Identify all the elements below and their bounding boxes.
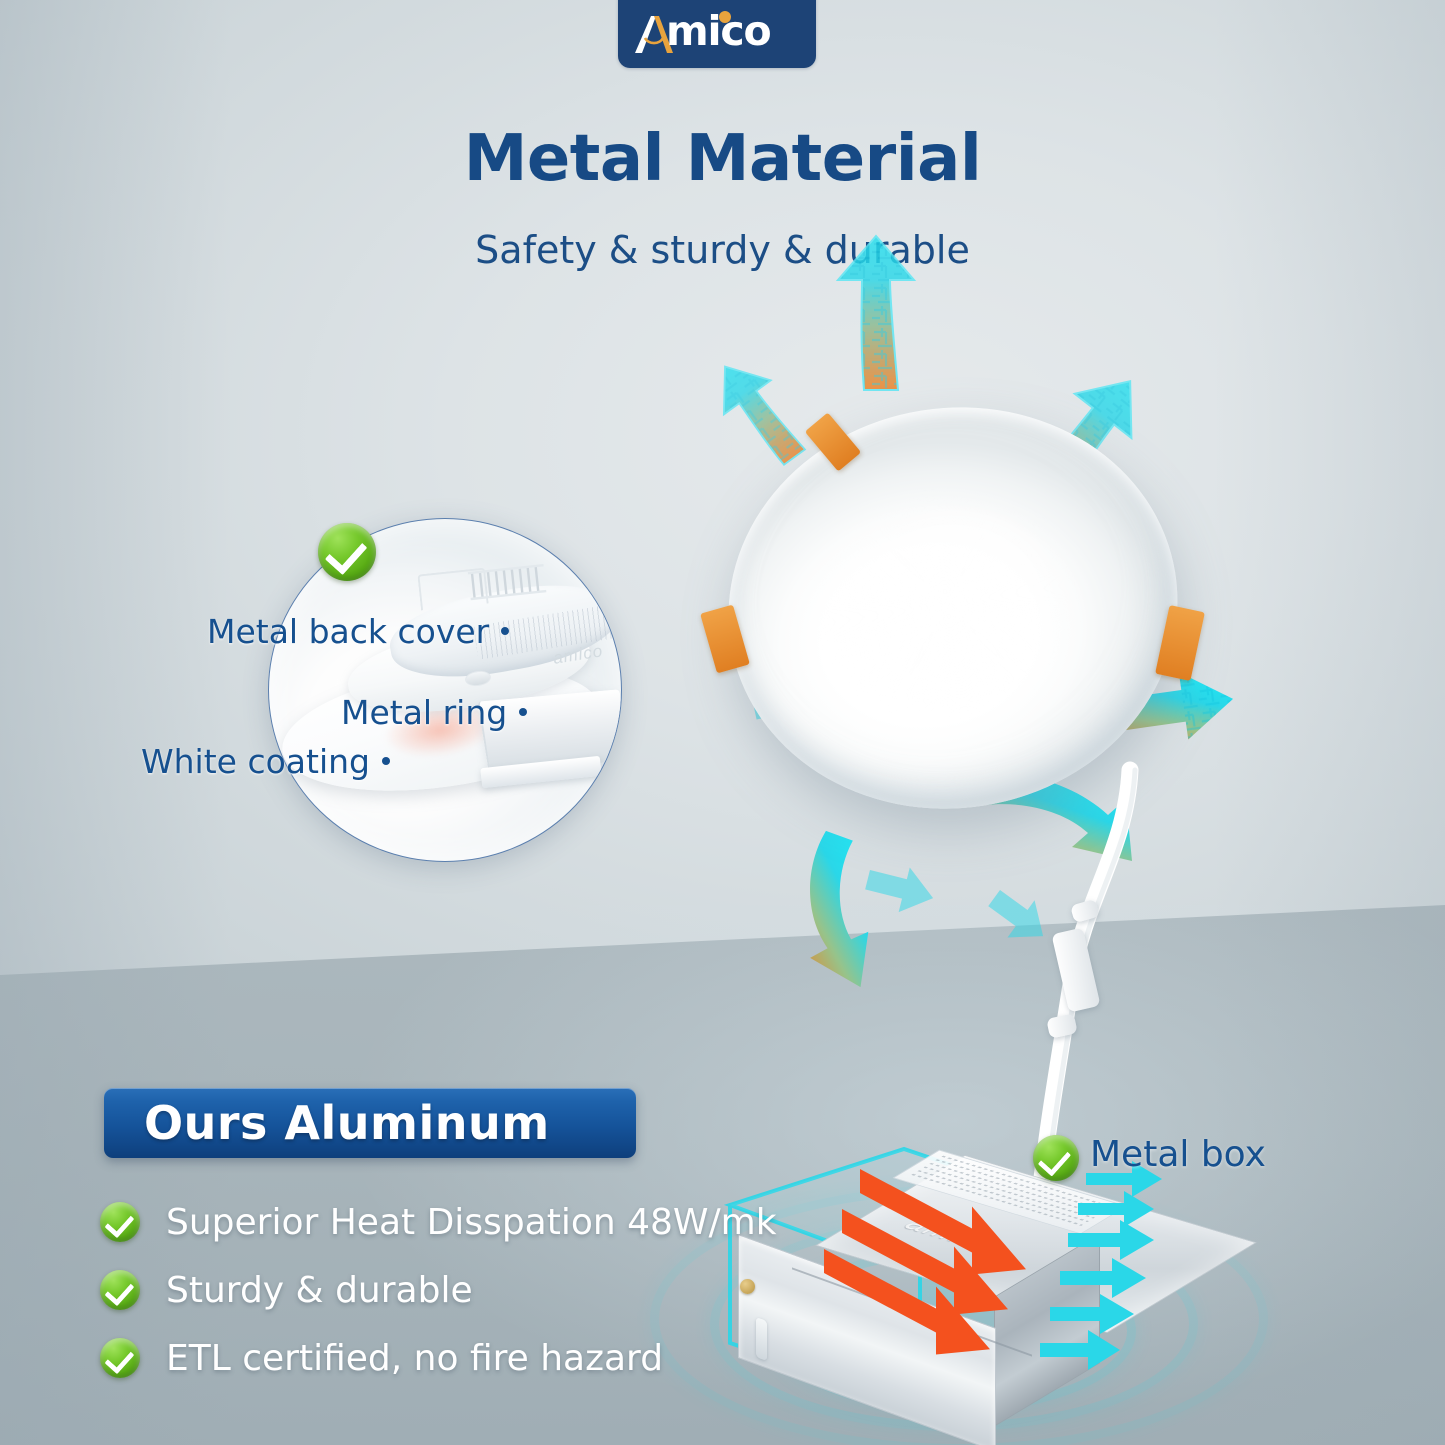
magnifier-check-badge [318, 523, 376, 581]
metal-box-check-badge [1033, 1135, 1079, 1181]
feature-text: Sturdy & durable [166, 1270, 473, 1311]
callout-dot-icon [382, 757, 390, 765]
green-check-icon [100, 1270, 140, 1310]
callout-metal-back-cover: Metal back cover [207, 612, 509, 651]
list-item: Sturdy & durable [100, 1256, 860, 1324]
metal-box-label: Metal box [1090, 1134, 1266, 1175]
ours-aluminum-banner: Ours Aluminum [104, 1088, 636, 1158]
page-title: Metal Material [0, 122, 1445, 196]
list-item: Superior Heat Disspation 48W/mk [100, 1188, 860, 1256]
green-check-icon [318, 523, 376, 581]
brand-logo: mico [618, 0, 816, 68]
callout-label-text: Metal back cover [207, 612, 489, 651]
green-check-icon [100, 1202, 140, 1242]
callout-dot-icon [519, 708, 527, 716]
callout-metal-ring: Metal ring [341, 693, 527, 732]
green-check-icon [1033, 1135, 1079, 1181]
list-item: ETL certified, no fire hazard [100, 1324, 860, 1392]
arrow-up-top [838, 236, 914, 390]
arrow-faint-bottom-left [862, 858, 939, 919]
callout-white-coating: White coating [141, 742, 390, 781]
product-infographic: mico Metal Material Safety & sturdy & du… [0, 0, 1445, 1445]
feature-list: Superior Heat Disspation 48W/mk Sturdy &… [100, 1188, 860, 1392]
feature-text: Superior Heat Disspation 48W/mk [166, 1202, 777, 1243]
callout-dot-icon [501, 627, 509, 635]
green-check-icon [100, 1338, 140, 1378]
banner-label: Ours Aluminum [144, 1096, 550, 1150]
callout-label-text: Metal ring [341, 693, 507, 732]
logo-i-dot-icon [717, 9, 733, 25]
callout-label-text: White coating [141, 742, 370, 781]
box-cooling-arrows [1076, 1161, 1296, 1377]
brand-logo-mark: mico [632, 9, 802, 61]
feature-text: ETL certified, no fire hazard [166, 1338, 663, 1379]
arrow-up-left [702, 350, 816, 476]
